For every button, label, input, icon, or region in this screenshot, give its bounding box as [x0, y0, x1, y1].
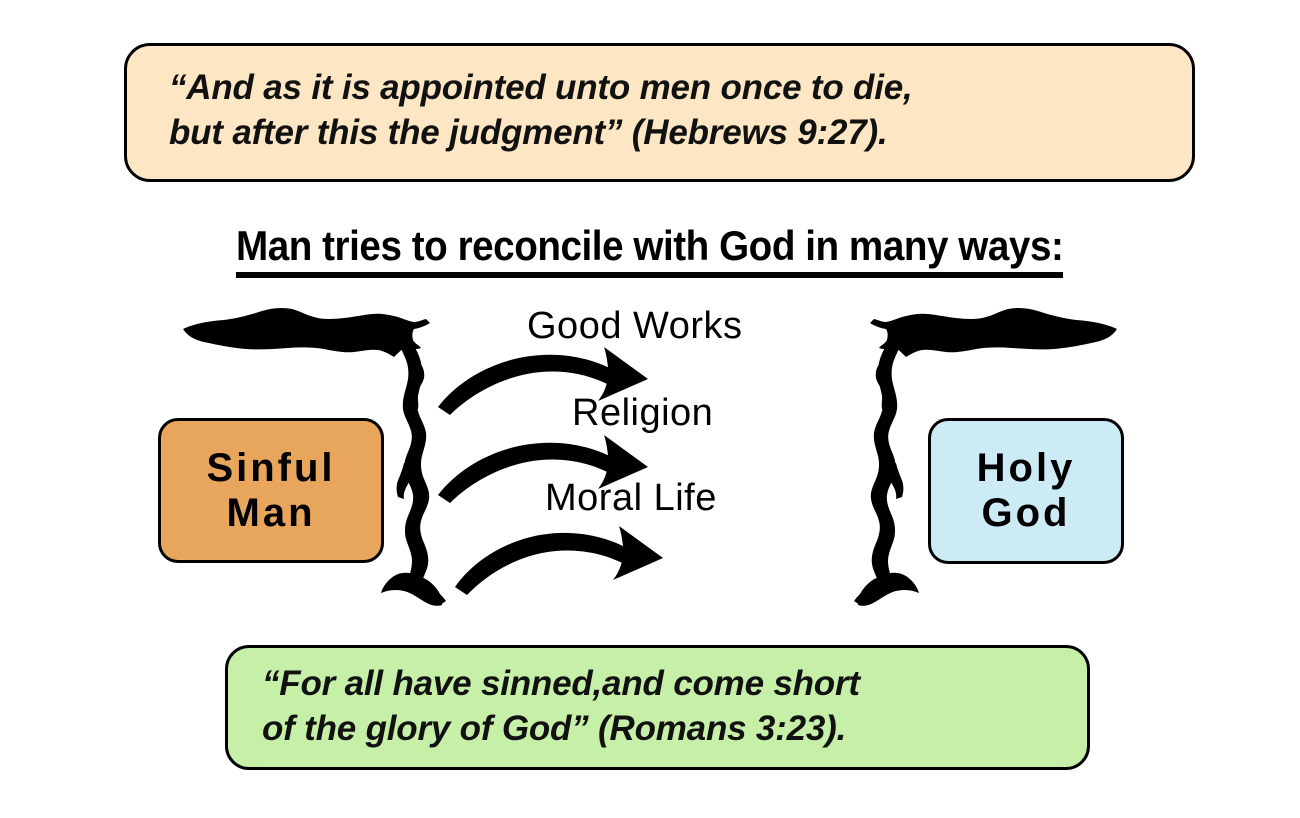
- entity-holy-god: Holy God: [928, 418, 1124, 564]
- heading-text: Man tries to reconcile with God in many …: [236, 222, 1063, 278]
- page-title: Man tries to reconcile with God in many …: [0, 222, 1300, 278]
- attempt-label-good-works: Good Works: [527, 305, 742, 348]
- attempt-label-moral-life: Moral Life: [545, 477, 717, 520]
- entity-sinful-man-label: Sinful Man: [206, 446, 335, 536]
- verse-callout-bottom: “For all have sinned,and come short of t…: [225, 645, 1090, 770]
- entity-sinful-man: Sinful Man: [158, 418, 384, 563]
- attempt-label-religion: Religion: [572, 392, 713, 435]
- verse-bottom-text: “For all have sinned,and come short of t…: [228, 662, 860, 752]
- slide-canvas: “And as it is appointed unto men once to…: [0, 0, 1300, 818]
- verse-callout-top: “And as it is appointed unto men once to…: [124, 43, 1195, 182]
- verse-top-text: “And as it is appointed unto men once to…: [127, 66, 913, 158]
- entity-holy-god-label: Holy God: [977, 446, 1076, 536]
- attempt-arrow-third-icon: [455, 526, 663, 595]
